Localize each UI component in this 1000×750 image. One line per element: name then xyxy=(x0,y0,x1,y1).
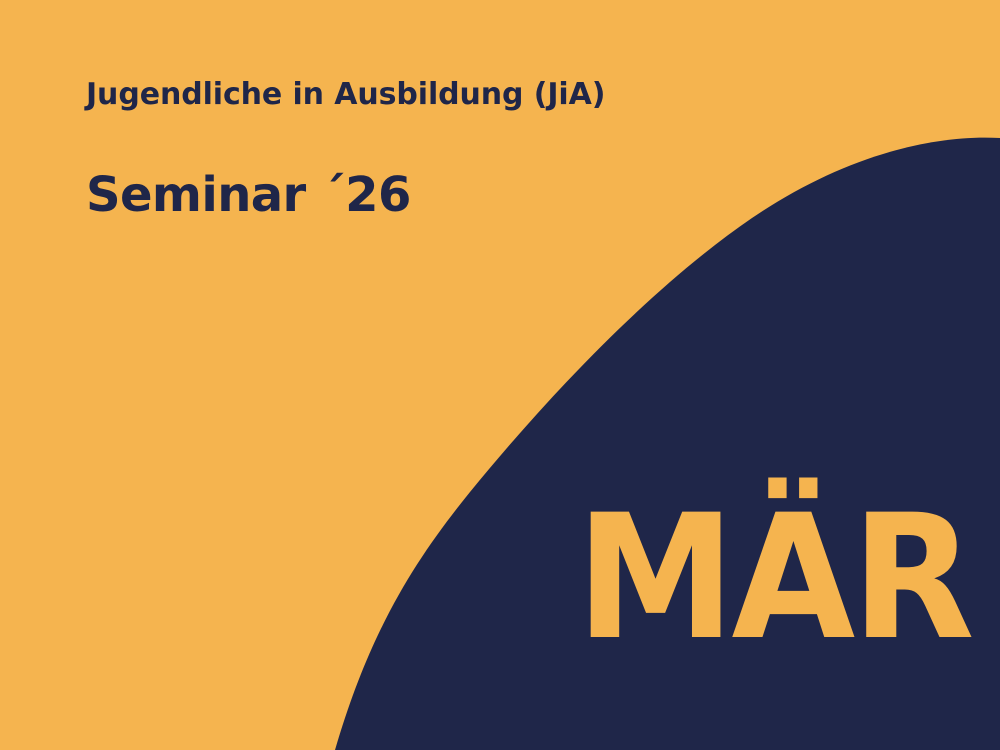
seminar-announcement-card: Jugendliche in Ausbildung (JiA) Seminar … xyxy=(0,0,1000,750)
month-abbreviation-label: MÄR xyxy=(576,492,971,664)
program-title: Jugendliche in Ausbildung (JiA) xyxy=(86,79,605,111)
event-title: Seminar ´26 xyxy=(86,170,411,222)
month-badge: MÄR xyxy=(576,492,926,682)
